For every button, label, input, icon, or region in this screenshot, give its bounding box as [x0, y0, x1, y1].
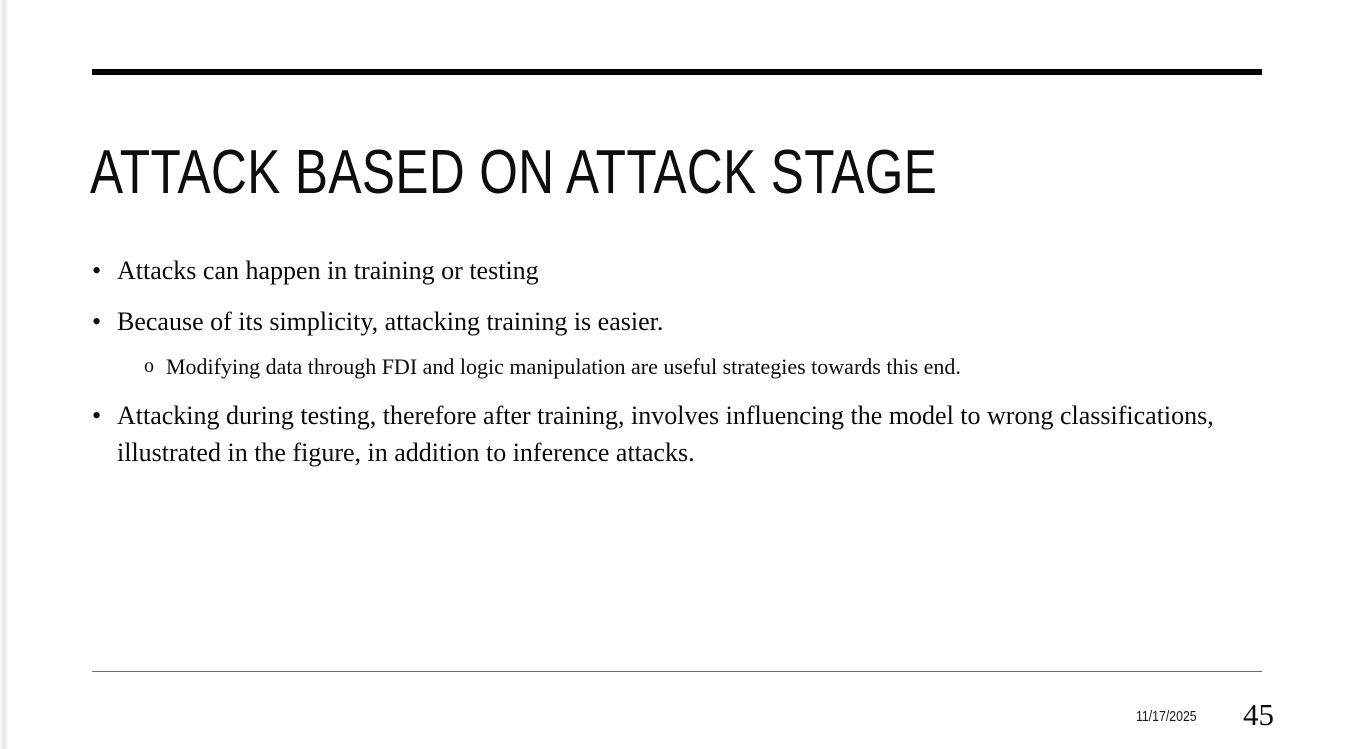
bullet-dot-icon: •	[92, 252, 101, 289]
slide-number: 45	[1243, 697, 1274, 733]
slide-canvas: ATTACK BASED ON ATTACK STAGE • Attacks c…	[0, 0, 1347, 749]
title-divider-rule	[92, 69, 1262, 75]
list-item: • Attacking during testing, therefore af…	[92, 397, 1222, 471]
sub-list-item-text: Modifying data through FDI and logic man…	[166, 350, 1222, 383]
page-title: ATTACK BASED ON ATTACK STAGE	[90, 139, 1034, 207]
list-item: • Because of its simplicity, attacking t…	[92, 303, 1222, 340]
bullet-dot-icon: •	[92, 303, 101, 340]
footer-date: 11/17/2025	[1136, 708, 1197, 726]
bullet-dot-icon: •	[92, 397, 101, 434]
list-item-text: Attacking during testing, therefore afte…	[117, 397, 1222, 471]
footer-divider-rule	[92, 671, 1262, 672]
bullet-circle-icon: o	[144, 350, 154, 383]
sub-list-item: o Modifying data through FDI and logic m…	[92, 350, 1222, 383]
list-item: • Attacks can happen in training or test…	[92, 252, 1222, 289]
list-item-text: Because of its simplicity, attacking tra…	[117, 303, 1222, 340]
slide-body: • Attacks can happen in training or test…	[92, 252, 1222, 485]
list-item-text: Attacks can happen in training or testin…	[117, 252, 1222, 289]
